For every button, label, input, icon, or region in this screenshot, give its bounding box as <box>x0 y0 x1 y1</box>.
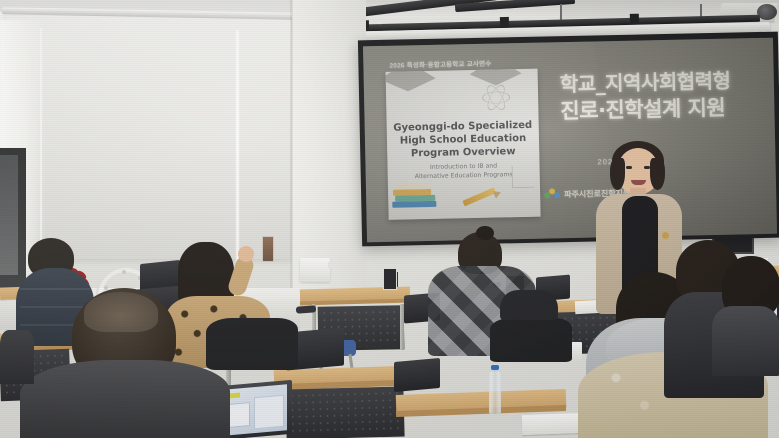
graduation-cap-icon <box>386 69 436 92</box>
attendee-3-balding-top <box>84 292 158 332</box>
projection-screen: 2026 특성화·융합고등학교 교사연수 Gyeonggi-do Special… <box>358 32 779 247</box>
books-icon <box>392 183 439 212</box>
printed-handout[interactable] <box>522 413 585 435</box>
classroom-photo-scene: 2026 특성화·융합고등학교 교사연수 Gyeonggi-do Special… <box>0 0 779 438</box>
card-title-line3: Program Overview <box>392 145 534 161</box>
slide-headline: 학교_지역사회협력형 진로·진학설계 지원 <box>560 68 775 124</box>
wall-corner-edge <box>290 0 293 300</box>
wall-art-frame <box>262 236 274 262</box>
bottle-cap-2 <box>491 365 499 370</box>
attendee-3-grey-coat <box>20 360 230 438</box>
screen-side-panel <box>254 395 284 430</box>
pencil-icon <box>462 187 496 206</box>
blind-seam-right <box>236 30 239 270</box>
coat-on-chair-2 <box>490 318 572 362</box>
water-bottle-2[interactable] <box>489 370 501 414</box>
slide-title-card: Gyeonggi-do Specialized High School Educ… <box>386 69 541 220</box>
wall-box-nozzle <box>328 262 336 268</box>
window-pane <box>0 155 18 275</box>
attendee-8-top <box>712 306 779 376</box>
presenter-eye-right <box>644 166 650 169</box>
bag-on-desk <box>500 290 558 320</box>
atom-icon <box>482 83 511 112</box>
presenter-hair-right <box>650 158 665 190</box>
wall-speaker <box>383 268 397 290</box>
rail-clip-3 <box>630 14 639 23</box>
wall-mounted-box <box>300 258 330 282</box>
pencil-tip-icon <box>493 188 503 198</box>
projected-slide: 2026 특성화·융합고등학교 교사연수 Gyeonggi-do Special… <box>363 38 777 243</box>
headline-line-2: 진로·진학설계 지원 <box>560 94 774 124</box>
slide-header-text: 2026 특성화·융합고등학교 교사연수 <box>389 58 491 70</box>
coat-on-chair-1 <box>206 318 298 370</box>
slide-card-title: Gyeonggi-do Specialized High School Educ… <box>392 119 535 161</box>
mouse-left[interactable] <box>296 305 316 313</box>
presenter-eye-left <box>626 166 632 169</box>
ceiling-vent-icon <box>757 4 777 20</box>
rail-clip-2 <box>500 17 509 26</box>
attendee-9-shoulder <box>0 330 34 384</box>
slide-card-subtitle: Introduction to IB and Alternative Educa… <box>395 161 531 182</box>
window-blind[interactable] <box>6 14 291 259</box>
presenter-brooch <box>662 232 669 239</box>
logo-mark-icon <box>544 188 560 201</box>
desk-panel-front-right <box>285 386 404 438</box>
presenter-hair-left <box>610 158 625 190</box>
attendee-2-hand <box>238 246 254 262</box>
headline-line-1: 학교_지역사회협력형 <box>560 68 774 96</box>
wall-pilaster <box>292 0 366 300</box>
card-sub-line2: Alternative Education Programs <box>396 170 532 182</box>
attendee-4-bun <box>476 226 494 240</box>
